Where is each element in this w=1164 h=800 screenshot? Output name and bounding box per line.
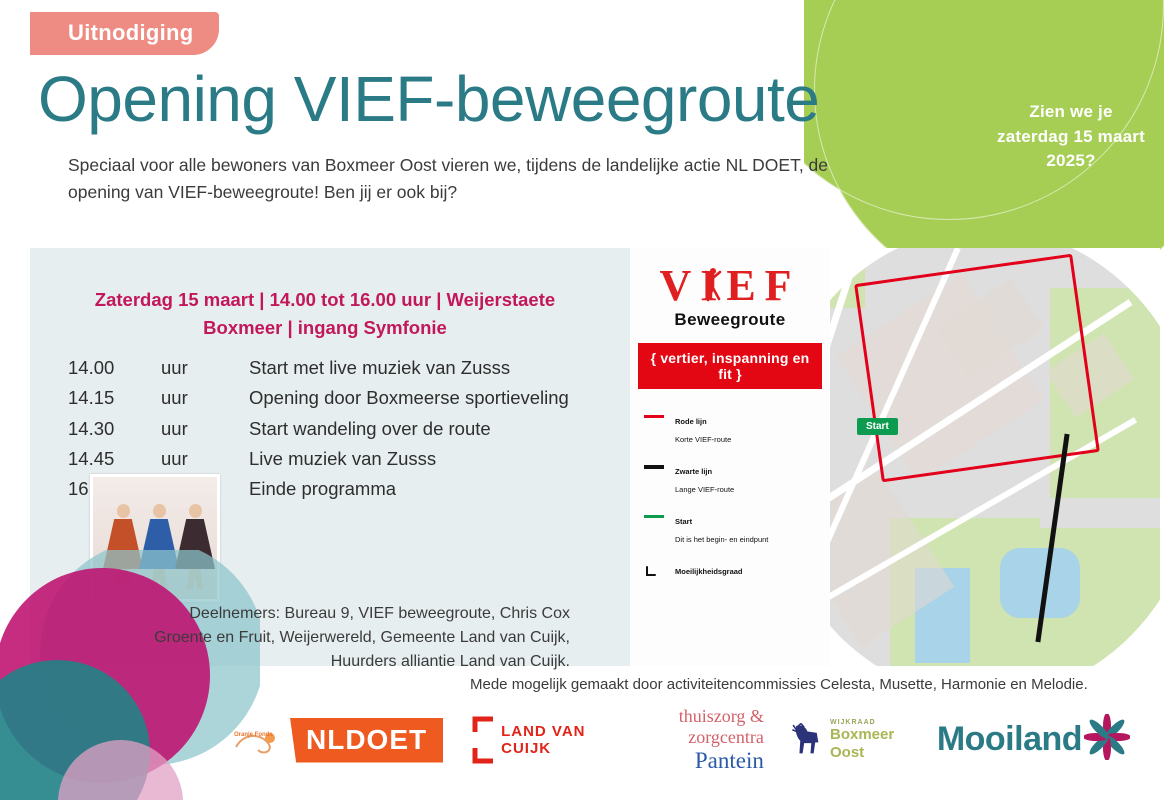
logo-pantein: thuiszorg & zorgcentra Pantein (632, 706, 764, 774)
green-circle-text: Zien we je zaterdag 15 maart 2025? (996, 100, 1146, 174)
map-legend: Rode lijn Korte VIEF-route Zwarte lijn L… (644, 411, 830, 584)
legend-item: Zwarte lijn Lange VIEF-route (644, 461, 830, 497)
nldoet-label: NLDOET (290, 718, 443, 763)
runner-icon (703, 266, 723, 306)
oranje-fonds-label: Oranje Fonds (234, 732, 273, 739)
legend-title: Zwarte lijn (675, 467, 712, 476)
schedule-desc: Live muziek van Zusss (249, 444, 588, 474)
goat-icon (790, 717, 823, 763)
photo-figure (175, 504, 215, 589)
flower-icon (1084, 714, 1130, 760)
zusss-photo (90, 474, 220, 602)
pantein-tagline: thuiszorg & zorgcentra (632, 706, 764, 748)
logo-mooiland: Mooiland (937, 720, 1130, 760)
schedule-time: 14.30 (68, 414, 161, 444)
legend-desc: Korte VIEF-route (675, 435, 731, 444)
start-marker[interactable]: Start (857, 418, 898, 435)
sponsor-logos: Oranje Fonds NLDOET LAND VAN CUIJK thuis… (230, 700, 1130, 780)
vief-logo: VIEF Beweegroute (643, 264, 818, 330)
legend-title: Rode lijn (675, 417, 707, 426)
schedule-unit: uur (161, 383, 249, 413)
pantein-name: Pantein (632, 748, 764, 774)
boxmeer-oost-label: Boxmeer Oost (830, 726, 911, 761)
schedule-desc: Einde programma (249, 474, 588, 504)
logo-nldoet: Oranje Fonds NLDOET (230, 718, 443, 763)
route-map[interactable]: Start (795, 248, 1160, 666)
land-van-cuijk-label: LAND VAN CUIJK (501, 723, 606, 758)
schedule-row: 14.30 uur Start wandeling over de route (68, 414, 588, 444)
schedule-time: 14.00 (68, 353, 161, 383)
logo-land-van-cuijk: LAND VAN CUIJK (469, 716, 606, 764)
legend-desc: Lange VIEF-route (675, 485, 734, 494)
schedule-desc: Opening door Boxmeerse sportieveling (249, 383, 588, 413)
schedule-row: 14.45 uur Live muziek van Zusss (68, 444, 588, 474)
vief-legend-card: VIEF Beweegroute { vertier, inspanning e… (630, 248, 830, 666)
photo-figure (139, 504, 179, 589)
schedule-unit: uur (161, 353, 249, 383)
legend-title: Moeilijkheidsgraad (675, 567, 743, 576)
difficulty-icon (644, 561, 666, 584)
legend-start-line-icon (644, 511, 666, 518)
legend-red-line-icon (644, 411, 666, 418)
oranje-fonds-icon: Oranje Fonds (230, 723, 284, 757)
schedule-desc: Start met live muziek van Zusss (249, 353, 588, 383)
legend-item: Moeilijkheidsgraad (644, 561, 830, 584)
wijkraad-label: WIJKRAAD (830, 719, 911, 726)
poster: Zien we je zaterdag 15 maart 2025? Uitno… (0, 0, 1164, 800)
participants-text: Deelnemers: Bureau 9, VIEF beweegroute, … (150, 602, 570, 674)
page-title: Opening VIEF-beweegroute (38, 62, 819, 136)
vief-wordmark: VIEF (643, 264, 818, 308)
schedule-time: 14.45 (68, 444, 161, 474)
legend-item: Rode lijn Korte VIEF-route (644, 411, 830, 447)
map-canvas: Start (795, 248, 1160, 666)
schedule-row: 14.15 uur Opening door Boxmeerse sportie… (68, 383, 588, 413)
schedule-desc: Start wandeling over de route (249, 414, 588, 444)
photo-figure (103, 504, 143, 589)
legend-item: Start Dit is het begin- en eindpunt (644, 511, 830, 547)
legend-black-line-icon (644, 461, 666, 469)
made-by-text: Mede mogelijk gemaakt door activiteitenc… (470, 676, 1088, 693)
event-when: Zaterdag 15 maart | 14.00 tot 16.00 uur … (90, 286, 560, 342)
schedule-row: 14.00 uur Start met live muziek van Zuss… (68, 353, 588, 383)
vief-banner: { vertier, inspanning en fit } (638, 343, 822, 389)
invitation-badge: Uitnodiging (30, 12, 219, 55)
schedule-unit: uur (161, 444, 249, 474)
logo-wijkraad-boxmeer-oost: WIJKRAAD Boxmeer Oost (790, 717, 911, 763)
legend-title: Start (675, 517, 692, 526)
intro-text: Speciaal voor alle bewoners van Boxmeer … (68, 152, 878, 206)
legend-desc: Dit is het begin- en eindpunt (675, 535, 768, 544)
schedule-unit: uur (161, 414, 249, 444)
bracket-icon (469, 716, 495, 764)
vief-subtitle: Beweegroute (643, 310, 818, 330)
schedule-time: 14.15 (68, 383, 161, 413)
mooiland-label: Mooiland (937, 720, 1082, 759)
